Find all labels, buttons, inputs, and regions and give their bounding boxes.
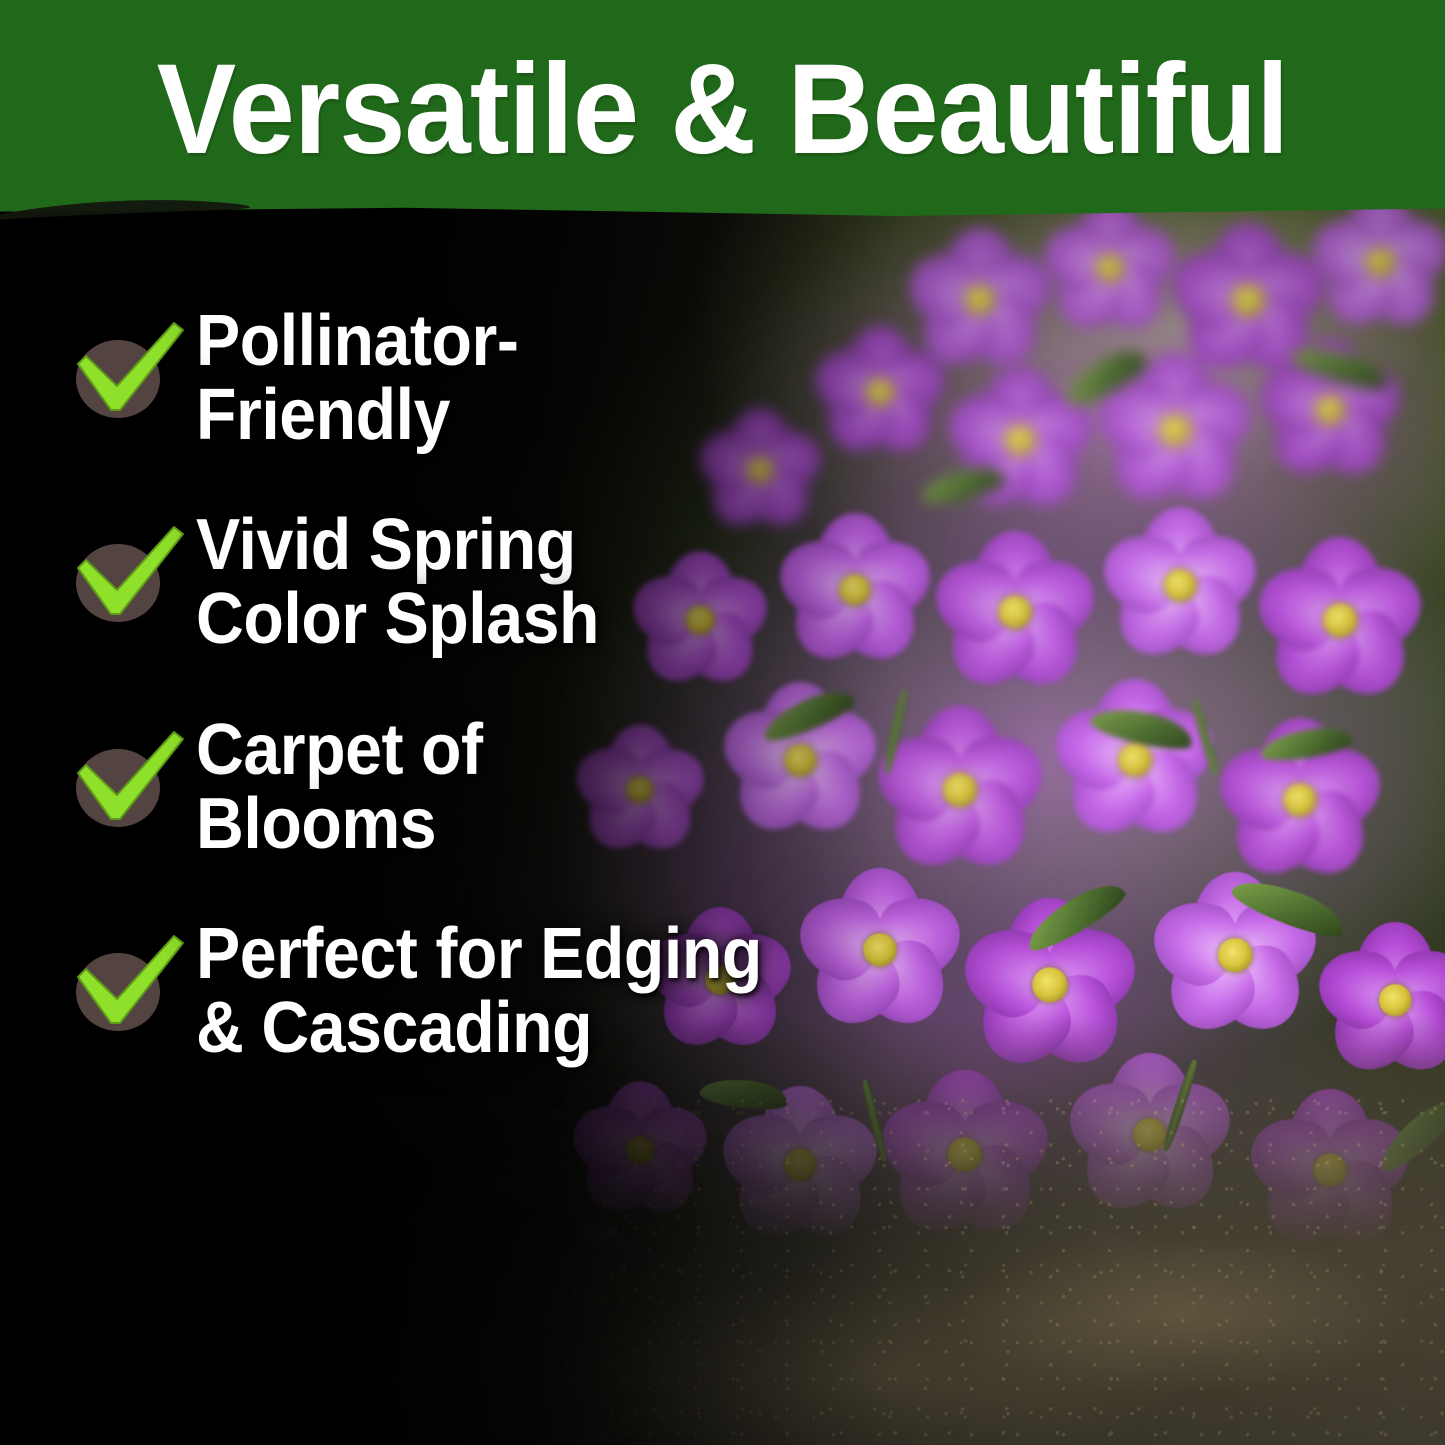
feature-item-vivid-spring-color-splash: Vivid Spring Color Splash bbox=[70, 504, 890, 656]
green-checkmark-icon bbox=[70, 318, 188, 422]
feature-label: Carpet of Blooms bbox=[196, 709, 483, 861]
checkmark-badge bbox=[70, 727, 188, 845]
feature-item-perfect-for-edging-cascading: Perfect for Edging & Cascading bbox=[70, 913, 890, 1065]
checkmark-badge bbox=[70, 931, 188, 1049]
feature-list: Pollinator- Friendly Vivid Spring Color … bbox=[70, 300, 890, 1117]
checkmark-badge bbox=[70, 318, 188, 436]
feature-item-carpet-of-blooms: Carpet of Blooms bbox=[70, 709, 890, 861]
green-checkmark-icon bbox=[70, 931, 188, 1035]
green-checkmark-icon bbox=[70, 727, 188, 831]
page-title: Versatile & Beautiful bbox=[51, 46, 1395, 174]
checkmark-badge bbox=[70, 522, 188, 640]
green-checkmark-icon bbox=[70, 522, 188, 626]
feature-label: Perfect for Edging & Cascading bbox=[196, 913, 762, 1065]
feature-item-pollinator-friendly: Pollinator- Friendly bbox=[70, 300, 890, 452]
feature-label: Vivid Spring Color Splash bbox=[196, 504, 599, 656]
feature-label: Pollinator- Friendly bbox=[196, 300, 518, 452]
poster-root: Versatile & Beautiful Pollinator- Friend… bbox=[0, 0, 1445, 1445]
